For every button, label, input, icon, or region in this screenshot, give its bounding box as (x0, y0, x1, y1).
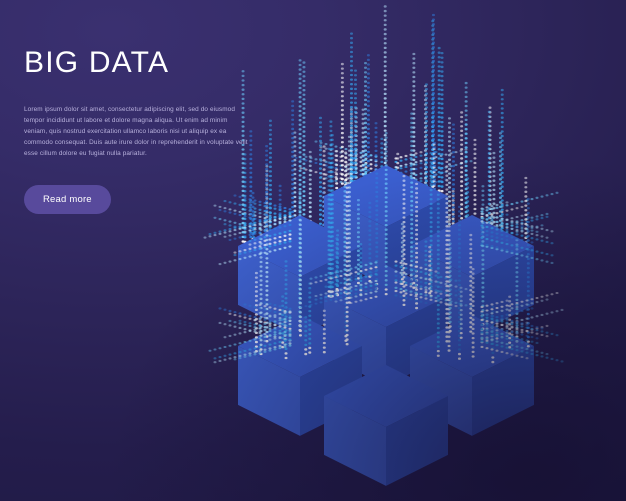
data-dot (465, 151, 468, 153)
data-dot (357, 282, 360, 284)
data-dot (515, 299, 518, 301)
data-dot (368, 252, 371, 254)
data-dot (491, 318, 494, 320)
data-dot (440, 276, 443, 278)
data-dot (415, 292, 418, 294)
data-dot (452, 190, 455, 192)
data-dot (516, 223, 519, 225)
data-dot (299, 316, 302, 318)
data-dot (299, 105, 302, 107)
data-dot (335, 178, 338, 180)
data-dot (546, 325, 549, 327)
data-dot (335, 251, 338, 253)
data-dot (400, 296, 403, 298)
data-dot (524, 186, 527, 188)
data-dot (501, 328, 504, 330)
data-dot (375, 266, 378, 268)
data-dot (244, 317, 247, 319)
data-dot (341, 81, 344, 83)
data-dot (299, 274, 302, 276)
data-dot (335, 164, 338, 166)
data-dot (465, 87, 468, 89)
data-dot (285, 315, 288, 317)
data-dot (430, 226, 433, 228)
data-dot (458, 210, 461, 212)
data-dot (285, 288, 288, 290)
data-dot (506, 343, 509, 345)
data-dot (445, 221, 448, 223)
data-dot (279, 345, 282, 347)
data-dot (367, 165, 370, 167)
data-dot (496, 204, 499, 206)
data-dot (285, 283, 288, 285)
data-dot (299, 160, 302, 162)
data-dot (425, 268, 428, 270)
data-dot (269, 335, 272, 337)
data-dot (470, 306, 473, 308)
data-dot (521, 215, 524, 217)
data-dot (279, 317, 282, 319)
data-dot (323, 178, 326, 180)
data-dot (214, 348, 217, 350)
data-dot (460, 309, 463, 311)
data-dot (346, 338, 349, 340)
data-dot (430, 290, 433, 292)
data-dot (458, 275, 461, 277)
data-dot (492, 166, 495, 168)
data-dot (375, 195, 378, 197)
data-dot (242, 217, 245, 219)
data-dot (284, 221, 287, 223)
data-dot (458, 229, 461, 231)
data-dot (491, 331, 494, 333)
data-dot (420, 296, 423, 298)
data-dot (415, 256, 418, 258)
data-dot (329, 194, 332, 196)
data-dot (481, 263, 484, 265)
data-dot (470, 160, 473, 162)
data-dot (412, 62, 415, 64)
data-dot (496, 228, 499, 230)
data-dot (433, 174, 436, 176)
data-dot (465, 202, 468, 204)
data-dot (561, 309, 564, 311)
data-dot (430, 166, 433, 168)
data-dot (329, 148, 332, 150)
data-dot (492, 198, 495, 200)
data-dot (352, 166, 355, 168)
data-dot (385, 265, 388, 267)
data-dot (448, 218, 451, 220)
data-dot (516, 233, 519, 235)
data-dot (515, 294, 518, 296)
data-dot (346, 320, 349, 322)
data-dot (229, 324, 232, 326)
data-dot (370, 154, 373, 156)
data-dot (402, 235, 405, 237)
data-dot (260, 279, 263, 281)
data-dot (329, 130, 332, 132)
data-dot (249, 330, 252, 332)
data-dot (472, 314, 475, 316)
data-dot (400, 291, 403, 293)
data-dot (511, 323, 514, 325)
data-dot (508, 296, 511, 298)
data-dot (501, 342, 504, 344)
data-dot (264, 230, 267, 232)
data-dot (441, 116, 444, 118)
data-dot (319, 144, 322, 146)
data-dot (438, 134, 441, 136)
data-dot (269, 325, 272, 327)
data-dot (546, 216, 549, 218)
data-dot (486, 244, 489, 246)
data-dot (511, 326, 514, 328)
data-dot (254, 249, 257, 251)
data-dot (481, 259, 484, 261)
data-dot (472, 323, 475, 325)
data-dot (346, 283, 349, 285)
data-dot (449, 325, 452, 327)
data-dot (488, 115, 491, 117)
data-dot (531, 325, 534, 327)
data-dot (346, 237, 349, 239)
data-dot (501, 248, 504, 250)
data-dot (254, 353, 257, 355)
data-dot (452, 124, 455, 126)
data-dot (420, 160, 423, 162)
data-dot (506, 332, 509, 334)
data-dot (405, 289, 408, 291)
data-dot (527, 276, 530, 278)
data-dot (395, 287, 398, 289)
data-dot (458, 243, 461, 245)
data-dot (350, 46, 353, 48)
data-dot (300, 167, 303, 169)
data-dot (445, 170, 448, 172)
data-dot (370, 168, 373, 170)
data-dot (214, 234, 217, 236)
data-dot (488, 207, 491, 209)
data-dot (346, 251, 349, 253)
data-dot (441, 112, 444, 114)
data-dot (359, 248, 362, 250)
data-dot (329, 259, 332, 261)
data-dot (465, 179, 468, 181)
data-dot (255, 286, 258, 288)
data-dot (428, 246, 431, 248)
data-dot (460, 162, 463, 164)
data-dot (260, 344, 263, 346)
data-dot (496, 224, 499, 226)
data-dot (269, 175, 272, 177)
data-dot (405, 284, 408, 286)
data-dot (496, 216, 499, 218)
data-dot (438, 180, 441, 182)
data-dot (445, 308, 448, 310)
data-dot (274, 324, 277, 326)
data-dot (370, 267, 373, 269)
data-dot (354, 83, 357, 85)
data-dot (430, 194, 433, 196)
data-dot (440, 291, 443, 293)
data-dot (346, 223, 349, 225)
data-dot (473, 199, 476, 201)
data-dot (445, 271, 448, 273)
data-dot (496, 337, 499, 339)
data-dot (242, 240, 245, 242)
data-dot (239, 327, 242, 329)
data-dot (430, 180, 433, 182)
data-dot (425, 282, 428, 284)
data-dot (511, 307, 514, 309)
data-dot (380, 142, 383, 144)
data-dot (437, 207, 440, 209)
data-dot (531, 233, 534, 235)
data-dot (531, 307, 534, 309)
data-dot (299, 73, 302, 75)
data-dot (325, 143, 328, 145)
data-dot (508, 309, 511, 311)
data-dot (501, 112, 504, 114)
data-dot (255, 272, 258, 274)
data-dot (481, 272, 484, 274)
data-dot (465, 91, 468, 93)
data-dot (501, 234, 504, 236)
data-dot (279, 240, 282, 242)
data-dot (255, 300, 258, 302)
data-dot (465, 142, 468, 144)
data-dot (384, 38, 387, 40)
data-dot (350, 101, 353, 103)
data-dot (501, 98, 504, 100)
data-dot (249, 218, 252, 220)
data-dot (424, 264, 427, 266)
data-dot (472, 355, 475, 357)
data-dot (441, 167, 444, 169)
data-dot (458, 247, 461, 249)
data-dot (412, 277, 415, 279)
data-dot (264, 308, 267, 310)
data-dot (449, 265, 452, 267)
data-dot (438, 167, 441, 169)
data-dot (259, 216, 262, 218)
data-dot (511, 225, 514, 227)
data-dot (289, 230, 292, 232)
data-dot (424, 131, 427, 133)
data-dot (370, 271, 373, 273)
data-dot (325, 148, 328, 150)
data-dot (244, 215, 247, 217)
data-dot (368, 216, 371, 218)
data-dot (299, 224, 302, 226)
data-dot (269, 189, 272, 191)
data-dot (309, 151, 312, 153)
data-dot (445, 202, 448, 204)
data-dot (460, 180, 463, 182)
data-dot (405, 267, 408, 269)
data-dot (300, 158, 303, 160)
data-dot (385, 219, 388, 221)
data-dot (492, 170, 495, 172)
data-dot (345, 295, 348, 297)
data-dot (546, 194, 549, 196)
data-dot (254, 319, 257, 321)
data-dot (289, 208, 292, 210)
data-dot (472, 309, 475, 311)
data-dot (330, 277, 333, 279)
data-dot (304, 335, 307, 337)
data-dot (469, 289, 472, 291)
data-dot (350, 143, 353, 145)
data-dot (508, 314, 511, 316)
data-dot (481, 229, 484, 231)
data-dot (264, 349, 267, 351)
data-dot (410, 177, 413, 179)
data-dot (501, 222, 504, 224)
data-dot (506, 352, 509, 354)
data-dot (424, 113, 427, 115)
data-dot (432, 129, 435, 131)
data-dot (465, 174, 468, 176)
data-dot (524, 209, 527, 211)
data-dot (308, 315, 311, 317)
data-dot (244, 224, 247, 226)
data-dot (425, 298, 428, 300)
data-dot (269, 129, 272, 131)
data-dot (350, 127, 353, 129)
data-dot (254, 228, 257, 230)
data-dot (304, 353, 307, 355)
data-dot (536, 333, 539, 335)
data-dot (445, 287, 448, 289)
data-dot (362, 109, 365, 111)
data-dot (302, 61, 305, 63)
data-dot (335, 288, 338, 290)
data-dot (481, 315, 484, 317)
data-dot (298, 214, 301, 216)
data-dot (279, 332, 282, 334)
data-dot (302, 167, 305, 169)
data-dot (531, 302, 534, 304)
data-dot (415, 276, 418, 278)
data-dot (291, 114, 294, 116)
data-dot (264, 240, 267, 242)
data-dot (269, 161, 272, 163)
data-dot (291, 132, 294, 134)
data-dot (420, 180, 423, 182)
data-dot (511, 228, 514, 230)
data-dot (234, 358, 237, 360)
data-dot (367, 123, 370, 125)
data-dot (322, 192, 325, 194)
data-dot (234, 314, 237, 316)
data-dot (437, 322, 440, 324)
data-dot (384, 88, 387, 90)
data-dot (320, 142, 323, 144)
data-dot (400, 165, 403, 167)
data-dot (410, 232, 413, 234)
data-dot (440, 282, 443, 284)
data-dot (320, 297, 323, 299)
data-dot (384, 153, 387, 155)
data-dot (254, 242, 257, 244)
data-dot (364, 94, 367, 96)
data-dot (367, 96, 370, 98)
data-dot (264, 244, 267, 246)
data-dot (362, 136, 365, 138)
data-dot (302, 107, 305, 109)
data-dot (269, 339, 272, 341)
data-dot (541, 252, 544, 254)
data-dot (341, 95, 344, 97)
data-dot (254, 254, 257, 256)
data-dot (551, 358, 554, 360)
data-dot (304, 321, 307, 323)
data-dot (448, 200, 451, 202)
data-dot (299, 311, 302, 313)
data-dot (279, 208, 282, 210)
data-dot (346, 246, 349, 248)
data-dot (410, 298, 413, 300)
data-dot (430, 230, 433, 232)
data-dot (279, 322, 282, 324)
data-dot (375, 241, 378, 243)
data-dot (229, 345, 232, 347)
data-dot (441, 144, 444, 146)
data-dot (357, 259, 360, 261)
data-dot (224, 346, 227, 348)
data-dot (488, 125, 491, 127)
data-dot (501, 181, 504, 183)
data-dot (452, 209, 455, 211)
data-dot (496, 241, 499, 243)
data-dot (367, 63, 370, 65)
data-dot (425, 278, 428, 280)
data-dot (473, 148, 476, 150)
data-dot (515, 317, 518, 319)
data-dot (501, 94, 504, 96)
data-dot (239, 250, 242, 252)
data-dot (264, 333, 267, 335)
data-dot (365, 276, 368, 278)
data-dot (521, 230, 524, 232)
data-dot (315, 141, 318, 143)
data-dot (401, 241, 404, 243)
data-dot (458, 224, 461, 226)
data-dot (481, 249, 484, 251)
data-dot (385, 141, 388, 143)
data-dot (452, 170, 455, 172)
data-dot (302, 140, 305, 142)
data-dot (319, 126, 322, 128)
data-dot (329, 157, 332, 159)
data-dot (302, 144, 305, 146)
data-dot (536, 231, 539, 233)
data-dot (255, 336, 258, 338)
data-dot (460, 130, 463, 132)
data-dot (460, 327, 463, 329)
data-dot (330, 295, 333, 297)
data-dot (402, 239, 405, 241)
data-dot (402, 212, 405, 214)
data-dot (309, 188, 312, 190)
read-more-button[interactable]: Read more (24, 185, 111, 214)
data-dot (465, 156, 468, 158)
data-dot (375, 237, 378, 239)
data-dot (219, 263, 222, 265)
data-dot (291, 146, 294, 148)
